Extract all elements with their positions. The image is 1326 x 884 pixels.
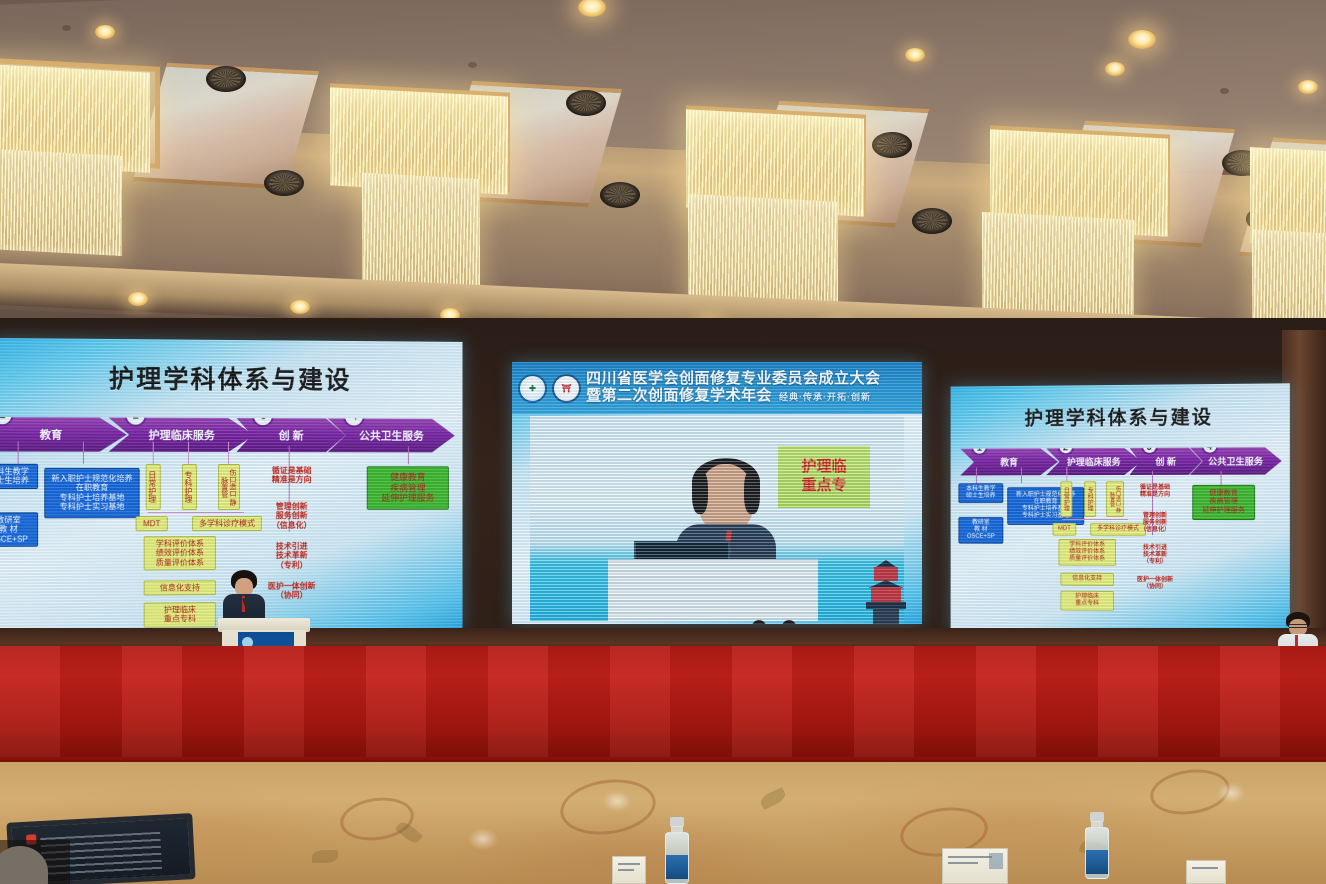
left-box-key-specialty: 护理临床重点专科	[144, 602, 216, 627]
feed-slide-highlight: 护理临 重点专	[778, 446, 870, 508]
video-speaker-body	[676, 524, 776, 610]
right-innov-3: 技术引进技术革新（专利）	[1126, 543, 1184, 569]
place-card-r-line-1	[1192, 867, 1218, 869]
table-place-card-right	[1186, 860, 1226, 884]
left-box-multidisciplinary: 多学科诊疗模式	[192, 516, 262, 532]
r-connector-ph	[1221, 471, 1222, 485]
left-box-edu-teaching: 教研室教 材OSCE+SP	[0, 512, 38, 547]
connector-ph	[408, 446, 409, 464]
video-speaker-head	[698, 464, 754, 532]
left-step-1-label: 教育	[40, 426, 62, 442]
chandelier-1-lower	[0, 148, 122, 256]
logo-glyph-green: ✚	[524, 380, 541, 397]
r-connector-edu-2	[1021, 467, 1022, 483]
video-podium-laptop	[634, 541, 730, 567]
pagoda-base	[873, 608, 899, 624]
ballroom-ceiling	[0, 0, 1326, 340]
right-innov-4: 医护一体创新（协同）	[1122, 575, 1188, 594]
right-step-3: 3 创 新	[1130, 448, 1202, 475]
left-step-2-number: 2	[125, 405, 147, 427]
left-step-4-number: 4	[344, 406, 366, 428]
video-speaker-mic	[718, 550, 728, 580]
soffit-downlight-1	[128, 292, 148, 306]
left-box-daily-care: 日常护理	[146, 464, 161, 510]
right-step-2-number: 2	[1057, 438, 1074, 455]
air-vent-3	[566, 90, 606, 116]
left-box-edu-undergrad: 本科生教学硕士生培养	[0, 464, 38, 489]
right-step-1-number: 1	[971, 439, 988, 456]
video-speaker-figure	[672, 464, 780, 604]
air-vent-1	[206, 66, 246, 92]
connector-mdt-bus	[148, 512, 244, 513]
panda-ear-left	[752, 620, 766, 624]
carpet-leaf-1	[312, 850, 338, 863]
right-box-edu-undergrad: 本科生教学硕士生培养	[958, 483, 1003, 503]
right-step-3-label: 创 新	[1155, 455, 1176, 468]
video-speaker-lanyard	[721, 530, 732, 570]
right-slide-title: 护理学科体系与建设	[958, 402, 1281, 431]
panda-ear-right	[782, 620, 796, 624]
banner-subtitle: 经典·传承·开拓·创新	[779, 392, 871, 402]
feed-slide-line-2: 重点专	[801, 477, 846, 496]
downlight-3	[95, 25, 115, 39]
soffit-downlight-2	[290, 300, 310, 314]
air-vent-2	[264, 170, 304, 196]
left-step-1-number: 1	[0, 404, 14, 426]
pagoda-tier-2	[871, 587, 901, 603]
right-box-wound-stoma: 伤口造口 静脉置管	[1106, 481, 1124, 517]
ceiling-fixture-dot-3	[1220, 88, 1229, 94]
r-connector-edu-1	[976, 467, 977, 483]
banner-line-2-row: 暨第二次创面修复学术年会 经典·传承·开拓·创新	[586, 388, 881, 405]
banner-line-1: 四川省医学会创面修复专业委员会成立大会	[586, 371, 881, 388]
panda-icon	[744, 614, 806, 624]
banner-text-block: 四川省医学会创面修复专业委员会成立大会 暨第二次创面修复学术年会 经典·传承·开…	[586, 371, 881, 405]
left-slide-title: 护理学科体系与建设	[1, 358, 454, 397]
live-video-feed: 护理临 重点专	[530, 416, 904, 621]
video-speaker-mic-head	[715, 544, 731, 558]
right-box-mdt: MDT	[1052, 523, 1076, 536]
place-card-c-line-1	[948, 856, 992, 858]
right-slide: 护理学科体系与建设 1 教育 2 护理临床服务 3 创 新 4 公共卫生服务	[951, 383, 1290, 636]
right-box-specialty-care: 专科护理	[1084, 481, 1096, 517]
downlight-5	[1105, 62, 1125, 76]
downlight-6	[1298, 80, 1318, 94]
left-step-2: 2 护理临床服务	[109, 418, 255, 453]
carpet-floret-2	[602, 790, 632, 812]
left-box-informatization: 信息化支持	[144, 580, 216, 596]
place-card-c-line-2	[948, 862, 978, 864]
left-step-3-number: 3	[252, 405, 274, 427]
left-box-edu-training: 新入职护士规范化培养在职教育专科护士培养基地专科护士实习基地	[44, 468, 139, 518]
ceiling-fixture-dot-1	[62, 25, 71, 31]
right-step-4-number: 4	[1201, 437, 1218, 454]
left-step-1: 1 教育	[0, 417, 127, 452]
left-box-wound-stoma: 伤口造口 静脉置管	[218, 464, 240, 510]
right-box-informatization: 信息化支持	[1060, 573, 1114, 586]
right-innov-1: 循证是基础精准是方向	[1126, 483, 1184, 501]
ceiling-fixture-dot-2	[468, 62, 477, 68]
r-connector-mdt-bus	[1062, 519, 1128, 520]
air-vent-5	[872, 132, 912, 158]
right-step-2-label: 护理临床服务	[1067, 455, 1121, 468]
right-step-4: 4 公共卫生服务	[1190, 447, 1282, 475]
place-card-badge	[989, 853, 1003, 869]
right-box-edu-teaching: 教研室教 材OSCE+SP	[958, 517, 1003, 544]
conference-emblem-logo: ⛩	[552, 374, 581, 403]
downlight-2	[1128, 30, 1156, 49]
conference-banner: ✚ ⛩ 四川省医学会创面修复专业委员会成立大会 暨第二次创面修复学术年会 经典·…	[512, 362, 922, 414]
bottle-label-right	[1086, 850, 1108, 874]
left-step-4-label: 公共卫生服务	[359, 427, 424, 443]
right-box-key-specialty: 护理临床重点专科	[1060, 591, 1114, 611]
right-step-1-label: 教育	[1000, 455, 1018, 468]
carpet-floret-3	[1216, 782, 1246, 804]
right-step-3-number: 3	[1141, 438, 1158, 455]
connector-edu-2	[83, 442, 84, 464]
video-speaker-arm	[708, 564, 742, 582]
left-step-3: 3 创 新	[236, 418, 345, 452]
right-step-4-label: 公共卫生服务	[1208, 454, 1263, 467]
video-speaker-hair	[692, 458, 760, 506]
left-step-3-label: 创 新	[279, 427, 304, 443]
connector-clin-1	[153, 442, 154, 464]
table-place-card-center	[942, 848, 1008, 884]
conference-hall-photo: 护理学科体系与建设 1 教育 2 护理临床服务 3 创 新 4 公共卫生服务	[0, 0, 1326, 884]
left-step-4: 4 公共卫生服务	[328, 418, 455, 452]
carpet-leaf-3	[758, 787, 787, 810]
center-led-screen: ✚ ⛩ 四川省医学会创面修复专业委员会成立大会 暨第二次创面修复学术年会 经典·…	[512, 362, 922, 624]
left-innov-2: 管理创新服务创新（信息化）	[254, 500, 329, 532]
right-box-eval-systems: 学科评价体系绩效评价体系质量评价体系	[1058, 539, 1116, 566]
bottle-label-left	[666, 855, 688, 879]
panelist-glasses-icon	[1289, 624, 1307, 628]
video-speaker-hair-left	[692, 470, 708, 514]
stage-skirt	[0, 646, 1326, 764]
banner-line-2: 暨第二次创面修复学术年会	[586, 388, 772, 405]
air-vent-6	[912, 208, 952, 234]
medical-association-logo: ✚	[518, 374, 547, 403]
pagoda-icon	[864, 560, 908, 624]
right-step-2: 2 护理临床服务	[1046, 448, 1141, 475]
chandelier-2-lower	[362, 173, 480, 297]
downlight-4	[905, 48, 925, 62]
table-place-card-left	[612, 856, 646, 884]
right-led-screen: 护理学科体系与建设 1 教育 2 护理临床服务 3 创 新 4 公共卫生服务	[951, 383, 1290, 636]
carpet-floret-1	[468, 828, 498, 850]
connector-edu-1	[18, 441, 19, 463]
left-box-public-health: 健康教育疾病管理延伸护理服务	[367, 466, 449, 509]
feed-slide-line-1: 护理临	[801, 458, 846, 477]
foreground-shadow	[0, 840, 70, 884]
right-box-daily-care: 日常护理	[1060, 481, 1072, 517]
left-box-eval-systems: 学科评价体系绩效评价体系质量评价体系	[144, 536, 216, 571]
right-box-public-health: 健康教育疾病管理延伸护理服务	[1192, 485, 1255, 520]
connector-clin-3	[228, 442, 229, 464]
left-innov-3: 技术引进技术革新（专利）	[254, 540, 329, 573]
place-card-line-1	[618, 863, 640, 865]
video-speaker-hair-right	[744, 470, 760, 514]
left-step-2-label: 护理临床服务	[149, 427, 215, 443]
place-card-line-2	[618, 869, 634, 871]
logo-glyph-red: ⛩	[558, 380, 575, 397]
right-innov-2: 管理创新服务创新（信息化）	[1126, 511, 1184, 536]
left-innov-1: 循证是基础精准是方向	[254, 464, 329, 487]
connector-clin-2	[188, 442, 189, 464]
left-box-specialty-care: 专科护理	[182, 464, 197, 510]
left-box-mdt: MDT	[136, 516, 168, 532]
pagoda-tier-1	[874, 567, 898, 581]
video-podium	[608, 559, 818, 621]
air-vent-4	[600, 182, 640, 208]
